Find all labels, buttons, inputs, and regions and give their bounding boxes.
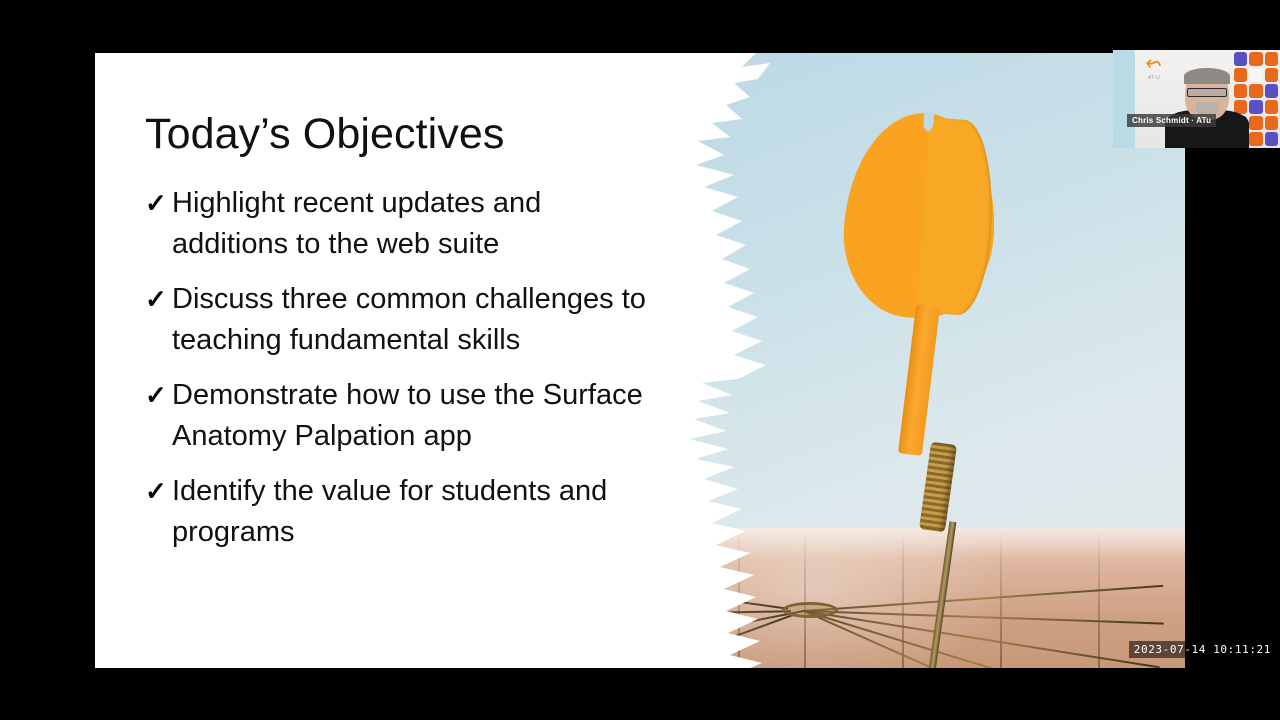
slide-text-column: Today’s Objectives ✓ Highlight recent up… xyxy=(95,53,665,668)
list-item: ✓ Discuss three common challenges to tea… xyxy=(145,279,665,361)
list-item-label: Identify the value for students and prog… xyxy=(172,471,662,553)
webcam-participant-video xyxy=(1165,68,1249,148)
list-item-label: Discuss three common challenges to teach… xyxy=(172,279,662,361)
checkmark-icon: ✓ xyxy=(145,279,172,320)
page-title: Today’s Objectives xyxy=(145,111,665,157)
list-item-label: Highlight recent updates and additions t… xyxy=(172,183,662,265)
list-item: ✓ Identify the value for students and pr… xyxy=(145,471,665,553)
dart-flight xyxy=(838,108,1002,323)
presentation-slide: Today’s Objectives ✓ Highlight recent up… xyxy=(95,53,1185,668)
checkmark-icon: ✓ xyxy=(145,471,172,512)
slide-photo-dartboard xyxy=(640,53,1185,668)
participant-hair xyxy=(1184,68,1230,84)
participant-name-label: Chris Schmidt · ATu xyxy=(1127,114,1216,127)
objectives-list: ✓ Highlight recent updates and additions… xyxy=(145,183,665,553)
dartboard-bullseye-ring xyxy=(782,602,838,618)
webcam-overlay[interactable]: ⤳ AT-U Chris Schmidt · ATu xyxy=(1113,50,1280,148)
dart-barrel xyxy=(919,442,957,533)
webcam-wall-left xyxy=(1113,50,1135,148)
checkmark-icon: ✓ xyxy=(145,375,172,416)
glasses-icon xyxy=(1187,88,1227,97)
atu-logo-mark: ⤳ xyxy=(1145,55,1162,73)
checkmark-icon: ✓ xyxy=(145,183,172,224)
list-item: ✓ Highlight recent updates and additions… xyxy=(145,183,665,265)
dart-graphic xyxy=(845,113,1045,633)
list-item-label: Demonstrate how to use the Surface Anato… xyxy=(172,375,662,457)
recording-timestamp: 2023-07-14 10:11:21 xyxy=(1129,641,1276,658)
dart-shaft xyxy=(898,304,940,456)
screen-recording-frame: Today’s Objectives ✓ Highlight recent up… xyxy=(0,0,1280,720)
list-item: ✓ Demonstrate how to use the Surface Ana… xyxy=(145,375,665,457)
